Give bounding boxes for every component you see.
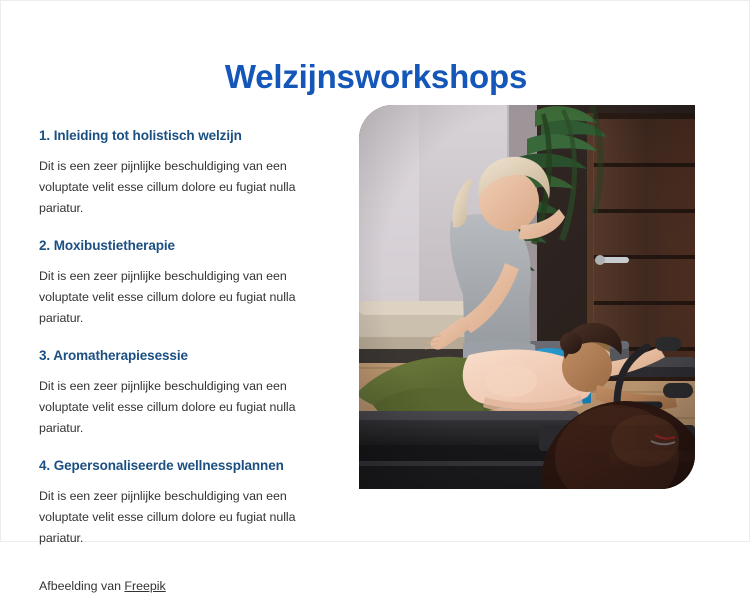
section-body-2: Dit is een zeer pijnlijke beschuldiging … <box>39 266 335 329</box>
section-body-3: Dit is een zeer pijnlijke beschuldiging … <box>39 376 335 439</box>
vignette <box>359 105 695 489</box>
freepik-link[interactable]: Freepik <box>124 579 165 593</box>
section-body-1: Dit is een zeer pijnlijke beschuldiging … <box>39 156 335 219</box>
section-heading-2: 2. Moxibustietherapie <box>39 237 335 255</box>
section-block: 2. Moxibustietherapie Dit is een zeer pi… <box>39 237 335 329</box>
section-heading-1: 1. Inleiding tot holistisch welzijn <box>39 127 335 145</box>
pilates-studio-illustration <box>359 105 695 489</box>
section-block: 1. Inleiding tot holistisch welzijn Dit … <box>39 127 335 219</box>
page-title: Welzijnsworkshops <box>1 57 750 97</box>
image-credit: Afbeelding van Freepik <box>39 576 335 596</box>
section-heading-3: 3. Aromatherapiesessie <box>39 347 335 365</box>
hero-photo <box>359 105 695 489</box>
section-body-4: Dit is een zeer pijnlijke beschuldiging … <box>39 486 335 549</box>
content-column: 1. Inleiding tot holistisch welzijn Dit … <box>39 127 335 596</box>
page-root: Welzijnsworkshops 1. Inleiding tot holis… <box>0 0 750 542</box>
image-credit-prefix: Afbeelding van <box>39 579 124 593</box>
section-heading-4: 4. Gepersonaliseerde wellnessplannen <box>39 457 335 475</box>
section-block: 3. Aromatherapiesessie Dit is een zeer p… <box>39 347 335 439</box>
section-block: 4. Gepersonaliseerde wellnessplannen Dit… <box>39 457 335 549</box>
